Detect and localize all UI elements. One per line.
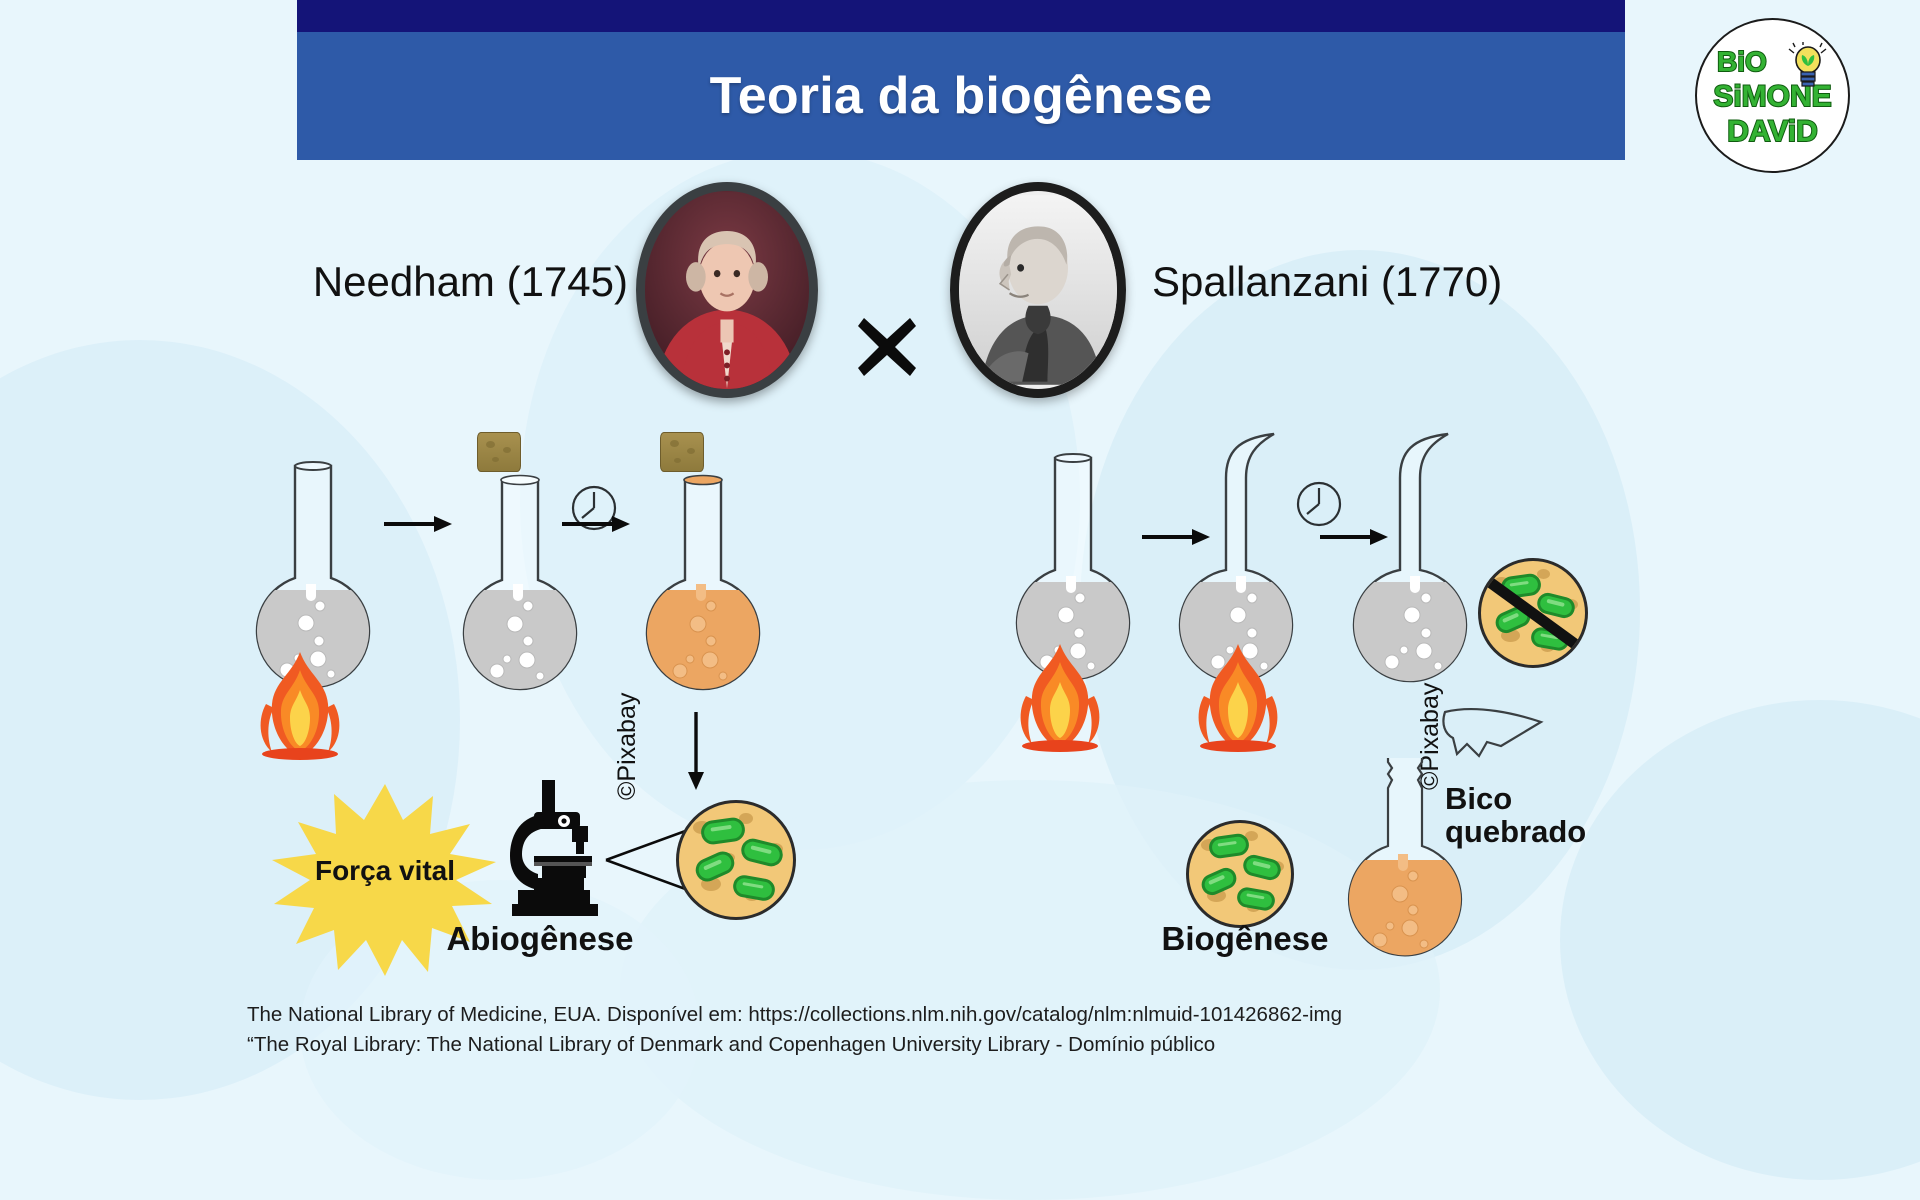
source-caption: The National Library of Medicine, EUA. D… — [247, 1000, 1697, 1061]
lightbulb-leaf-icon — [1787, 42, 1829, 92]
flame-icon — [1012, 640, 1108, 752]
needham-flask-step2 — [455, 458, 585, 708]
biogenese-label: Biogênese — [1120, 920, 1370, 958]
arrow-down-icon — [685, 712, 707, 792]
pixabay-watermark: ©Pixabay — [613, 693, 642, 800]
infographic-canvas: Teoria da biogênese BiO SiMONE DAViD Nee… — [0, 0, 1920, 1080]
cork-stopper — [660, 432, 704, 472]
header-title-bar: Teoria da biogênese — [297, 32, 1625, 160]
arrow-right-icon — [384, 513, 454, 535]
spallanzani-portrait — [950, 182, 1126, 398]
forca-vital-label: Força vital — [280, 855, 490, 887]
needham-name-label: Needham (1745) — [248, 258, 628, 306]
caption-line-1: The National Library of Medicine, EUA. D… — [247, 1000, 1697, 1030]
bico-quebrado-label: Bico quebrado — [1445, 782, 1635, 849]
caption-line-2: “The Royal Library: The National Library… — [247, 1030, 1697, 1060]
background-blob — [1560, 700, 1920, 1180]
microscope-icon — [490, 778, 610, 918]
versus-x-icon — [852, 312, 922, 382]
header: Teoria da biogênese — [297, 0, 1625, 160]
petri-dish-bacteria-absent — [1478, 558, 1588, 668]
logo-line-3: DAViD — [1695, 115, 1850, 149]
arrow-right-icon — [562, 513, 632, 535]
needham-portrait — [636, 182, 818, 398]
bico-quebrado-text: Bico quebrado — [1445, 781, 1586, 849]
page-title: Teoria da biogênese — [710, 66, 1213, 126]
brand-logo[interactable]: BiO SiMONE DAViD — [1695, 18, 1850, 173]
spallanzani-name-label: Spallanzani (1770) — [1152, 258, 1632, 306]
abiogenese-label: Abiogênese — [400, 920, 680, 958]
flame-icon — [1190, 640, 1286, 752]
cork-stopper — [477, 432, 521, 472]
needham-flask-step3 — [638, 458, 768, 708]
spallanzani-flask-step3-swan-neck — [1352, 430, 1512, 702]
clock-icon — [1295, 480, 1343, 528]
petri-dish-bacteria-present — [1186, 820, 1294, 928]
header-top-bar — [297, 0, 1625, 32]
petri-dish-bacteria-present — [676, 800, 796, 920]
flame-icon — [252, 648, 348, 760]
broken-glass-shard-icon — [1437, 700, 1547, 770]
